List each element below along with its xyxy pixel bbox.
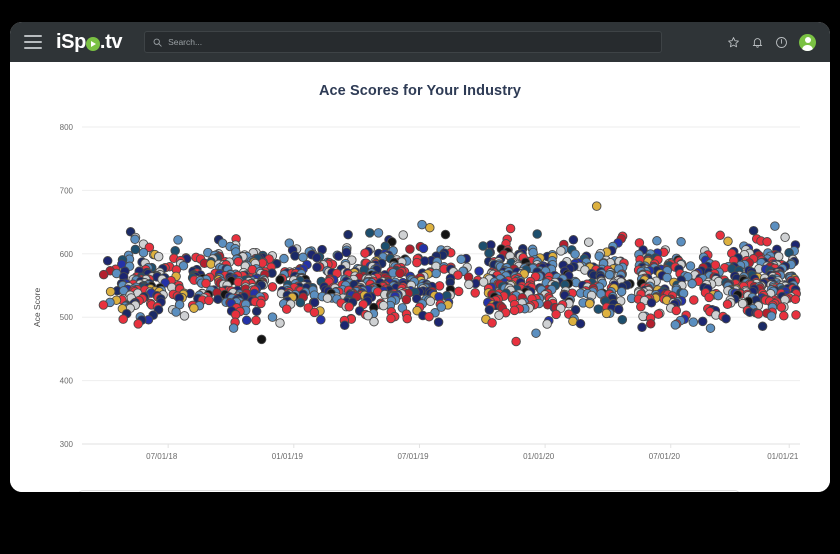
svg-text:01/01/20: 01/01/20 [523, 452, 555, 461]
logo-text-pre: iSp [56, 31, 86, 54]
chart-title: Ace Scores for Your Industry [10, 62, 830, 99]
topbar-actions [713, 34, 816, 51]
search-input[interactable] [168, 37, 653, 47]
help-info-icon[interactable] [775, 36, 788, 49]
chart-panel: Ace Scores for Your Industry Ace Score 3… [10, 62, 830, 492]
favorite-star-icon[interactable] [727, 36, 740, 49]
search-icon [153, 38, 162, 47]
svg-text:800: 800 [60, 123, 74, 132]
search-bar[interactable] [144, 31, 662, 53]
svg-text:01/01/21: 01/01/21 [767, 452, 799, 461]
svg-text:07/01/18: 07/01/18 [146, 452, 178, 461]
svg-text:600: 600 [60, 250, 74, 259]
svg-text:07/01/19: 07/01/19 [397, 452, 429, 461]
svg-text:700: 700 [60, 186, 74, 195]
ispot-logo[interactable]: iSp .tv [56, 31, 122, 54]
notifications-bell-icon[interactable] [751, 36, 764, 49]
svg-text:300: 300 [60, 440, 74, 449]
y-axis-label: Ace Score [32, 288, 42, 327]
scatter-plot[interactable]: 300400500600700800 07/01/1801/01/1907/01… [10, 122, 830, 467]
user-avatar[interactable] [799, 34, 816, 51]
y-axis-ticks: 300400500600700800 [60, 123, 74, 449]
chart-legend: Brand 1Brand 2Brand 3Brand 4Brand 5Brand… [78, 490, 740, 492]
svg-text:07/01/20: 07/01/20 [649, 452, 681, 461]
app-window: iSp .tv [10, 22, 830, 492]
svg-text:01/01/19: 01/01/19 [272, 452, 304, 461]
top-navigation-bar: iSp .tv [10, 22, 830, 62]
logo-text-post: .tv [100, 31, 122, 54]
data-points [99, 202, 800, 346]
svg-text:500: 500 [60, 313, 74, 322]
svg-text:400: 400 [60, 377, 74, 386]
play-circle-icon [86, 37, 100, 51]
x-axis-ticks: 07/01/1801/01/1907/01/1901/01/2007/01/20… [82, 444, 800, 461]
plot-area: Ace Score 300400500600700800 07/01/1801/… [10, 122, 830, 467]
hamburger-menu-icon[interactable] [24, 35, 42, 49]
